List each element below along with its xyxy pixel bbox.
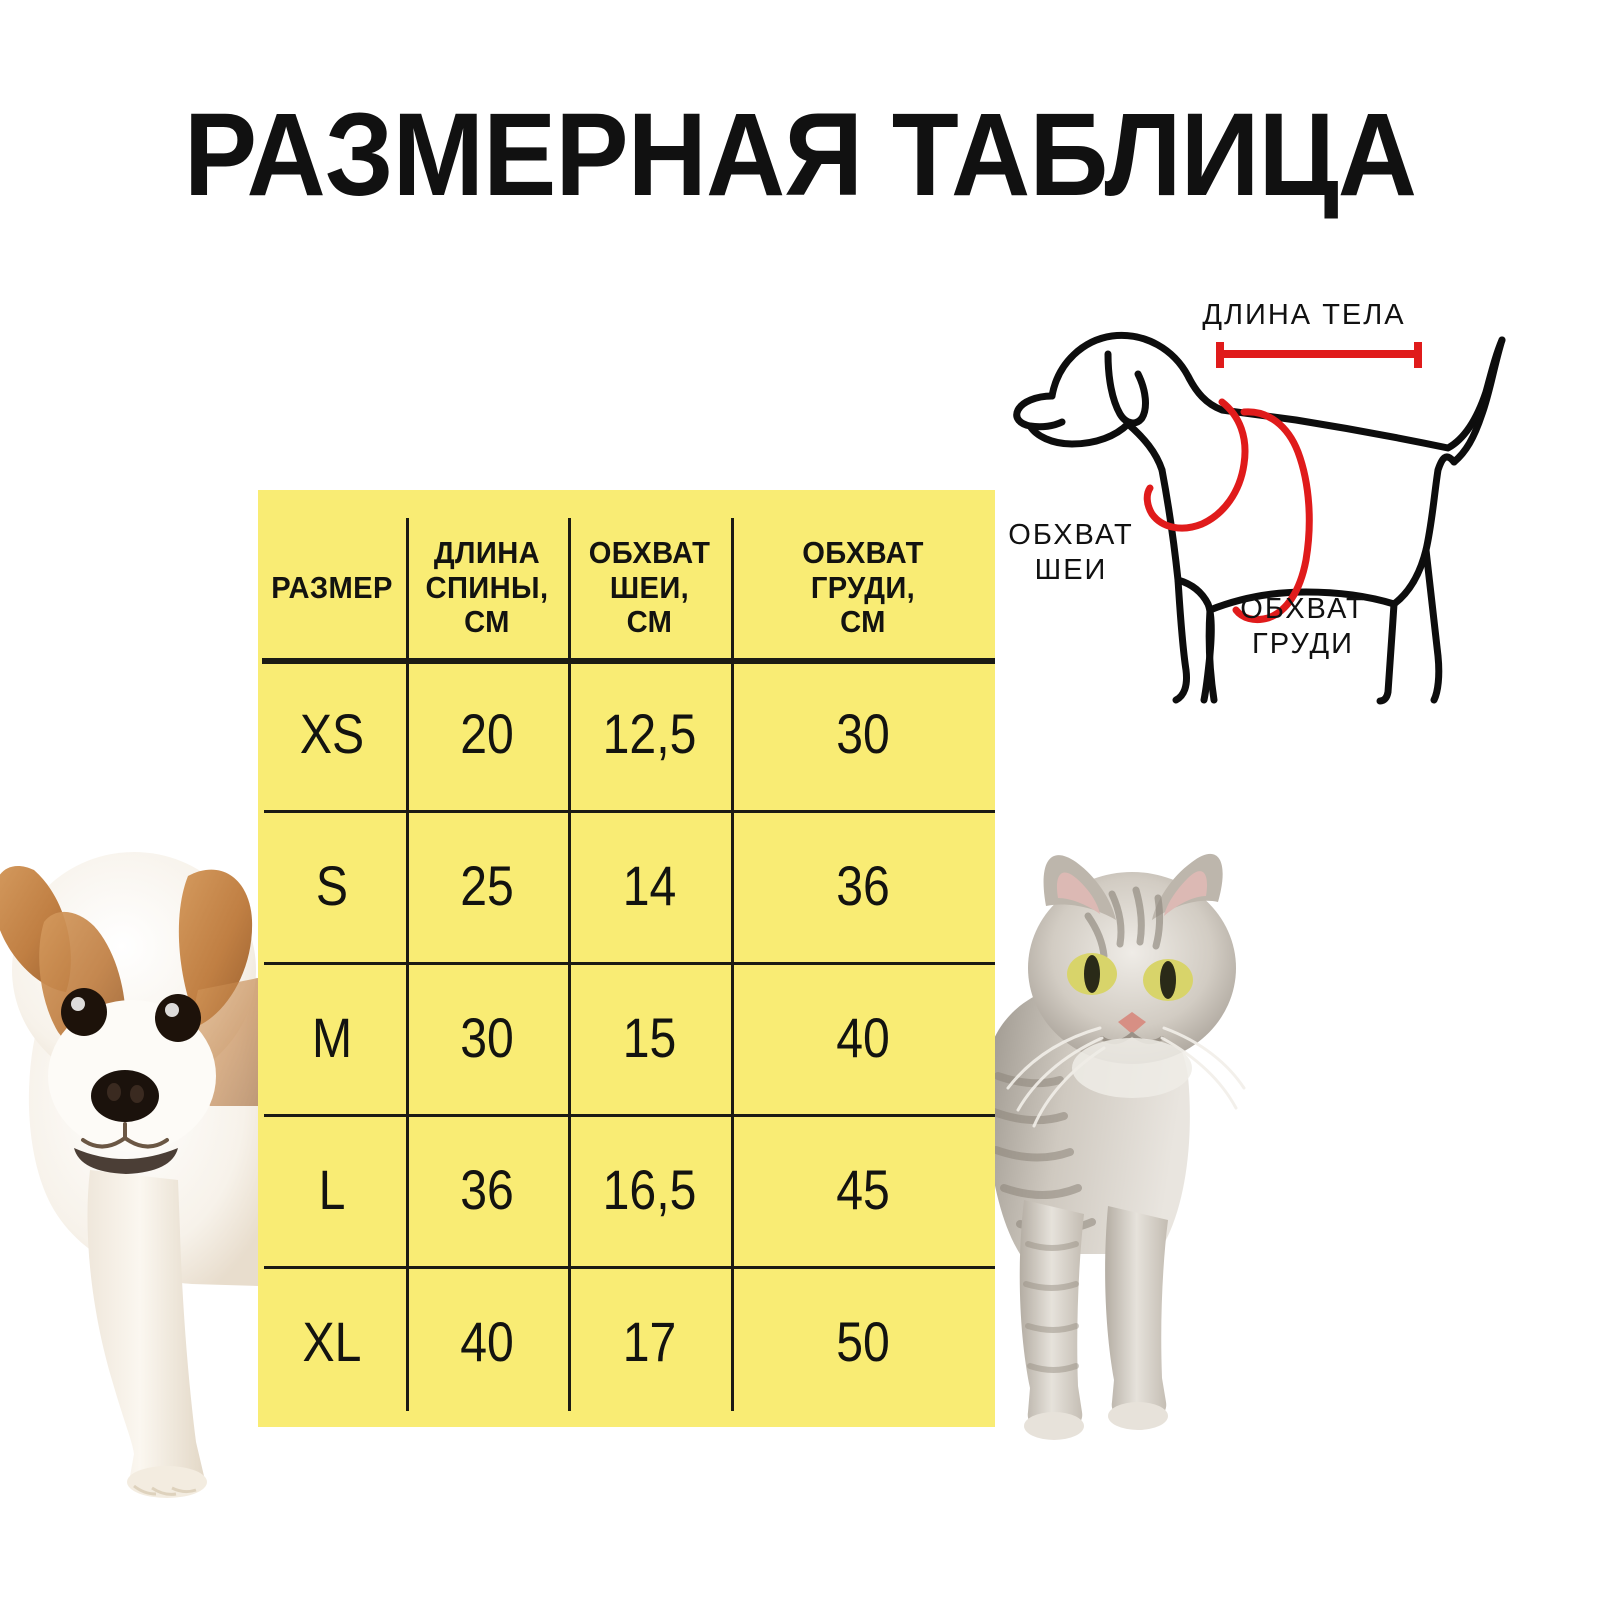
label-neck-girth: ОБХВАТ ШЕИ xyxy=(996,518,1146,589)
table-row: XL 40 17 50 xyxy=(258,1266,995,1418)
cell-neck: 15 xyxy=(579,962,719,1114)
page-title: РАЗМЕРНАЯ ТАБЛИЦА xyxy=(56,96,1544,214)
cat-photo xyxy=(980,840,1280,1460)
table-row: M 30 15 40 xyxy=(258,962,995,1114)
label-chest-girth: ОБХВАТ ГРУДИ xyxy=(1218,592,1388,663)
table-row: L 36 16,5 45 xyxy=(258,1114,995,1266)
cell-chest: 36 xyxy=(749,810,976,962)
size-chart-page: РАЗМЕРНАЯ ТАБЛИЦА xyxy=(0,0,1600,1600)
header-cell-size: РАЗМЕР xyxy=(262,518,401,658)
cell-size: XL xyxy=(268,1266,395,1418)
header-cell-neck: ОБХВАТ ШЕИ, СМ xyxy=(573,518,726,658)
cell-size: S xyxy=(268,810,395,962)
cell-size: M xyxy=(268,962,395,1114)
header-cell-back: ДЛИНА СПИНЫ, СМ xyxy=(411,518,563,658)
dog-measurement-diagram: ДЛИНА ТЕЛА ОБХВАТ ШЕИ ОБХВАТ ГРУДИ xyxy=(996,292,1516,702)
cell-neck: 12,5 xyxy=(579,658,719,810)
cell-chest: 40 xyxy=(749,962,976,1114)
cell-neck: 14 xyxy=(579,810,719,962)
cell-chest: 50 xyxy=(749,1266,976,1418)
cell-chest: 30 xyxy=(749,658,976,810)
cell-back: 40 xyxy=(417,1266,556,1418)
cell-back: 25 xyxy=(417,810,556,962)
cat-photo-artwork xyxy=(980,840,1280,1460)
cell-back: 20 xyxy=(417,658,556,810)
cell-chest: 45 xyxy=(749,1114,976,1266)
body-length-dimension-line xyxy=(1218,342,1420,368)
table-row: S 25 14 36 xyxy=(258,810,995,962)
table-header-row: РАЗМЕР ДЛИНА СПИНЫ, СМ ОБХВАТ ШЕИ, СМ ОБ… xyxy=(258,518,995,658)
label-body-length: ДЛИНА ТЕЛА xyxy=(1174,298,1434,333)
cell-back: 30 xyxy=(417,962,556,1114)
cell-size: L xyxy=(268,1114,395,1266)
table-cells: РАЗМЕР ДЛИНА СПИНЫ, СМ ОБХВАТ ШЕИ, СМ ОБ… xyxy=(258,490,995,1427)
cell-neck: 16,5 xyxy=(579,1114,719,1266)
cell-back: 36 xyxy=(417,1114,556,1266)
cell-size: XS xyxy=(268,658,395,810)
dog-photo-artwork xyxy=(0,740,258,1500)
size-table: РАЗМЕР ДЛИНА СПИНЫ, СМ ОБХВАТ ШЕИ, СМ ОБ… xyxy=(258,490,995,1427)
cell-neck: 17 xyxy=(579,1266,719,1418)
table-row: XS 20 12,5 30 xyxy=(258,658,995,810)
dog-photo xyxy=(0,740,258,1500)
header-cell-chest: ОБХВАТ ГРУДИ, СМ xyxy=(739,518,987,658)
